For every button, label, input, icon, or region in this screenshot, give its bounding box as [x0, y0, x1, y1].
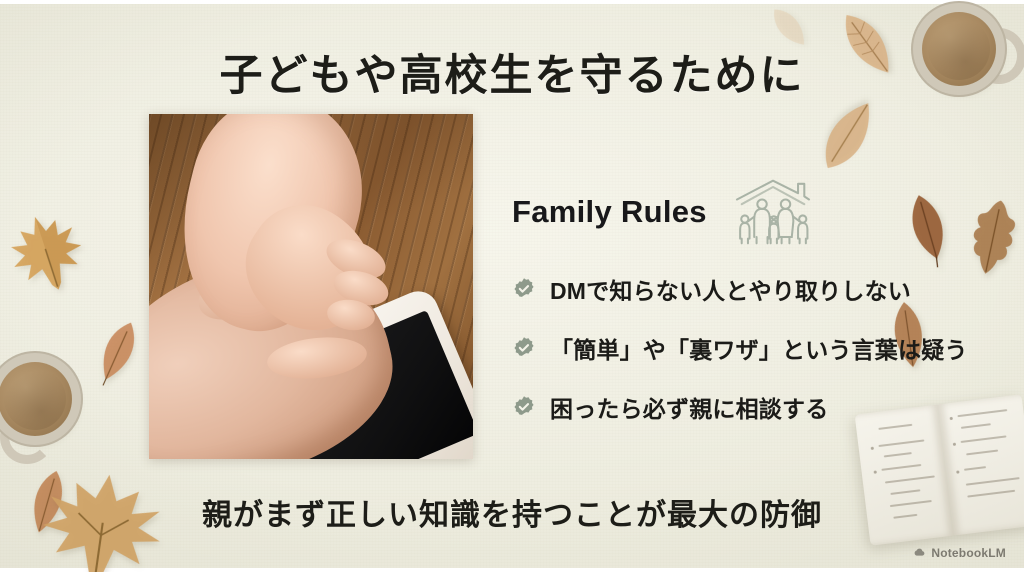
- handwriting-line: [961, 423, 991, 429]
- handwriting-line: [966, 450, 998, 456]
- notebooklm-logo-icon: [913, 547, 926, 560]
- handwriting-bullet: [956, 470, 959, 473]
- handwriting-bullet: [874, 470, 877, 473]
- handwriting-line: [961, 435, 1007, 443]
- handwriting-line: [884, 452, 912, 457]
- slide-caption: 親がまず正しい知識を持つことが最大の防御: [0, 490, 1024, 534]
- family-rules-title: Family Rules: [512, 194, 707, 230]
- handwriting-bullet: [871, 447, 874, 450]
- notebooklm-watermark-label: NotebookLM: [931, 546, 1006, 560]
- coffee-mug-bottom-left: [0, 362, 72, 436]
- page-title: 子どもや高校生を守るために: [0, 41, 1024, 103]
- family-rules-panel: Family Rules: [512, 176, 952, 449]
- check-badge-icon: [512, 395, 536, 419]
- notebooklm-watermark: NotebookLM: [913, 546, 1006, 560]
- list-item-label: 困ったら必ず親に相談する: [550, 390, 828, 424]
- list-item: DMで知らない人とやり取りしない: [512, 272, 952, 306]
- family-rules-header: Family Rules: [512, 176, 952, 248]
- handwriting-bullet: [950, 417, 953, 420]
- handwriting-line: [878, 424, 912, 430]
- check-badge-icon: [512, 277, 536, 301]
- handwriting-line: [881, 464, 921, 471]
- list-item-label: 「簡単」や「裏ワザ」という言葉は疑う: [550, 331, 968, 365]
- handwriting-line: [878, 439, 924, 447]
- handwriting-line: [957, 409, 1007, 417]
- check-badge-icon: [512, 336, 536, 360]
- slide-canvas: 子どもや高校生を守るために Family Rules: [0, 0, 1024, 572]
- handwriting-line: [966, 477, 1020, 486]
- mug-inner-shade: [4, 368, 66, 430]
- handwriting-line: [964, 466, 986, 471]
- handwriting-line: [885, 475, 935, 483]
- list-item: 「簡単」や「裏ワザ」という言葉は疑う: [512, 331, 952, 365]
- hands-and-phone-photo: [149, 114, 473, 459]
- list-item-label: DMで知らない人とやり取りしない: [550, 272, 911, 306]
- family-under-roof-icon: [733, 176, 813, 248]
- handwriting-bullet: [953, 443, 956, 446]
